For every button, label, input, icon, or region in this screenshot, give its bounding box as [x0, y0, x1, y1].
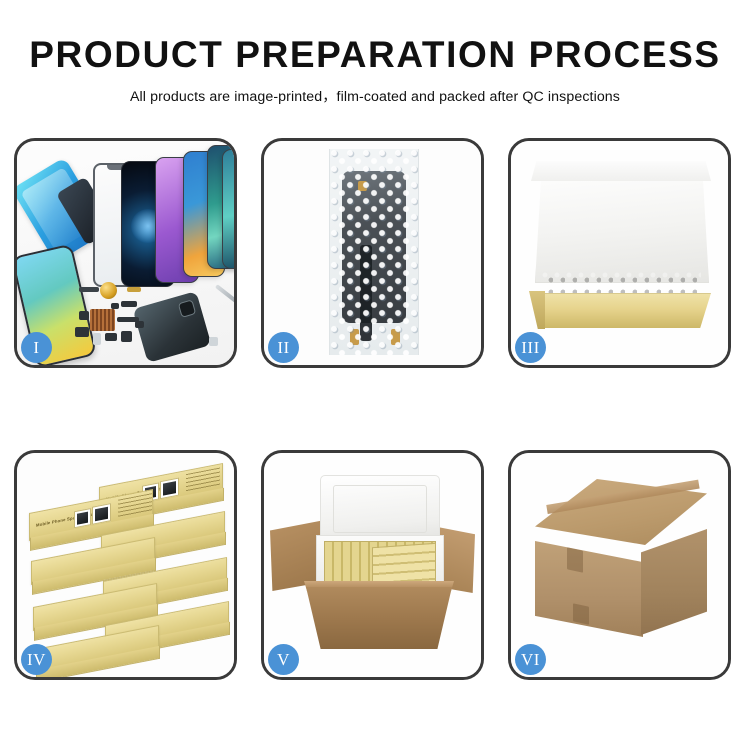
bubble-highlights [330, 149, 418, 355]
step-badge-3: III [515, 332, 546, 363]
carton-left-panel [535, 541, 643, 637]
header: PRODUCT PREPARATION PROCESS All products… [0, 0, 750, 106]
smartphone-green [222, 149, 234, 269]
foam-box-lid [535, 163, 709, 283]
step-3-image [511, 141, 728, 365]
step-badge-2: II [268, 332, 299, 363]
bubble-wrap-bag [329, 149, 419, 355]
step-badge-6: VI [515, 644, 546, 675]
process-step-grid: I II [14, 138, 736, 680]
spare-part [209, 337, 218, 346]
step-5-image [264, 453, 481, 677]
step-badge-1: I [21, 332, 52, 363]
spare-part [75, 327, 89, 337]
page-subtitle: All products are image-printed，film-coat… [0, 86, 750, 106]
copper-grid-chip [90, 309, 115, 331]
foam-lid-tab [531, 161, 711, 181]
phone-back-housing [133, 291, 212, 363]
page-title: PRODUCT PREPARATION PROCESS [0, 36, 750, 75]
carton-seam-tab [567, 547, 583, 572]
spare-part [105, 333, 117, 341]
spare-part [79, 287, 99, 292]
kraft-box-base [531, 293, 711, 328]
box-window [160, 478, 179, 500]
spare-part [135, 321, 144, 328]
spare-part [121, 331, 132, 342]
carton-seam-tab [573, 603, 589, 624]
process-step-5: V [261, 450, 484, 680]
step-badge-5: V [268, 644, 299, 675]
speaker-coil-part [100, 282, 117, 299]
spare-part [127, 287, 141, 292]
step-1-image [17, 141, 234, 365]
step-badge-4: IV [21, 644, 52, 675]
step-2-image [264, 141, 481, 365]
spare-part [111, 303, 119, 309]
step-6-image [511, 453, 728, 677]
box-window [74, 508, 91, 528]
process-step-6: VI [508, 450, 731, 680]
box-stack: Mobile Phone Spare Parts Mobile Phone Sp… [21, 467, 233, 667]
kraft-box-side [529, 291, 545, 329]
foam-insert-lid [320, 475, 440, 543]
spare-part [93, 333, 101, 345]
carton-right-panel [641, 529, 707, 635]
carton-front-panel [306, 587, 452, 649]
tweezers-tool [215, 284, 234, 306]
step-4-image: Mobile Phone Spare Parts Mobile Phone Sp… [17, 453, 234, 677]
box-side [36, 646, 160, 677]
process-step-4: Mobile Phone Spare Parts Mobile Phone Sp… [14, 450, 237, 680]
spare-part [79, 311, 89, 320]
process-step-3: III [508, 138, 731, 368]
process-step-2: II [261, 138, 484, 368]
process-step-1: I [14, 138, 237, 368]
box-window [92, 503, 111, 525]
product-preparation-infographic: PRODUCT PREPARATION PROCESS All products… [0, 0, 750, 750]
spare-part [121, 301, 137, 307]
